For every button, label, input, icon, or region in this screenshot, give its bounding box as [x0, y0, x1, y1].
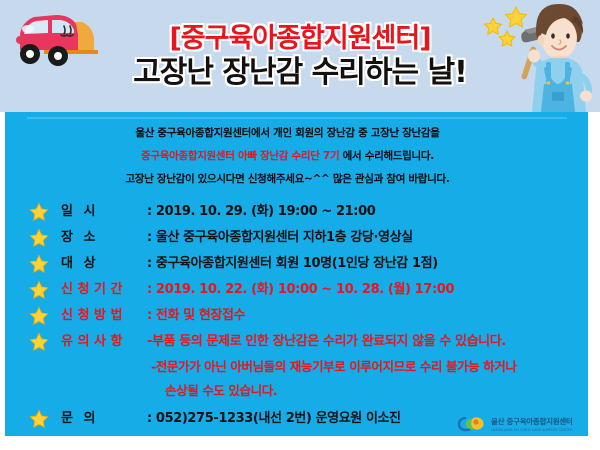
info-row-label: 유 의 사 항 — [61, 330, 147, 349]
description-line-2-highlight: 중구육아종합지원센터 아빠 장난감 수리단 7기 — [141, 150, 339, 162]
star-bullet-icon — [29, 306, 49, 326]
caution-subnote-2: 손상될 수도 있습니다. — [165, 380, 277, 399]
info-row-caution: 유 의 사 항 -부품 등의 문제로 인한 장난감은 수리가 완료되지 않을 수… — [5, 330, 588, 356]
caution-subnote-1-row: -전문가가 아닌 아버님들의 재능기부로 이루어지므로 수리 불가능 하거나 — [5, 356, 588, 380]
info-row-value: : 052)275-1233(내선 2번) 운영요원 이소진 — [147, 407, 401, 426]
description-line-3: 고장난 장난감이 있으시다면 신청해주세요~^^ 많은 관심과 참여 바랍니다. — [5, 168, 570, 191]
poster-header: [중구육아종합지원센터] 고장난 장난감 수리하는 날! — [0, 0, 600, 112]
star-bullet-icon — [29, 332, 49, 352]
info-row-datetime: 일 시 : 2019. 10. 29. (화) 19:00 ~ 21:00 — [5, 200, 588, 226]
header-title-block: [중구육아종합지원센터] 고장난 장난감 수리하는 날! — [92, 6, 508, 108]
info-row-label: 신 청 방 법 — [61, 304, 147, 323]
info-row-application-method: 신 청 방 법 : 전화 및 현장접수 — [5, 304, 588, 330]
handyman-with-hammer-icon — [516, 0, 600, 112]
star-bullet-icon — [29, 228, 49, 248]
info-row-label: 신 청 기 간 — [61, 278, 147, 297]
info-row-value: : 울산 중구육아종합지원센터 지하1층 강당·영상실 — [147, 226, 413, 245]
info-row-label: 대 상 — [61, 252, 147, 271]
info-row-value: -부품 등의 문제로 인한 장난감은 수리가 완료되지 않을 수 있습니다. — [147, 330, 506, 349]
info-row-application-period: 신 청 기 간 : 2019. 10. 22. (화) 10:00 ~ 10. … — [5, 278, 588, 304]
description-line-1: 울산 중구육아종합지원센터에서 개인 회원의 장난감 중 고장난 장난감을 — [5, 122, 570, 145]
caution-subnote-2-row: 손상될 수도 있습니다. — [5, 380, 588, 404]
description-block: 울산 중구육아종합지원센터에서 개인 회원의 장난감 중 고장난 장난감을 중구… — [5, 122, 588, 191]
logo-subtitle: ULSAN JUNG-GU CHILD CARE SUPPORT CENTER — [491, 428, 573, 432]
poster-body: 울산 중구육아종합지원센터에서 개인 회원의 장난감 중 고장난 장난감을 중구… — [5, 112, 588, 436]
poster-title-line-2: 고장난 장난감 수리하는 날! — [133, 57, 467, 89]
info-row-label: 장 소 — [61, 226, 147, 245]
info-row-target: 대 상 : 중구육아종합지원센터 회원 10명(1인당 장난감 1점) — [5, 252, 588, 278]
description-line-2: 중구육아종합지원센터 아빠 장난감 수리단 7기 에서 수리해드립니다. — [5, 145, 570, 168]
organization-logo: 울산 중구육아종합지원센터 ULSAN JUNG-GU CHILD CARE S… — [457, 411, 583, 436]
poster-root: [중구육아종합지원센터] 고장난 장난감 수리하는 날! — [0, 0, 600, 450]
description-line-2-rest: 에서 수리해드립니다. — [339, 150, 434, 162]
info-row-value: : 중구육아종합지원센터 회원 10명(1인당 장난감 1점) — [147, 252, 438, 271]
star-bullet-icon — [29, 409, 49, 429]
info-row-label: 일 시 — [61, 200, 147, 219]
info-list: 일 시 : 2019. 10. 29. (화) 19:00 ~ 21:00 장 … — [5, 200, 588, 404]
info-row-value: : 전화 및 현장접수 — [147, 304, 245, 323]
ulsan-junggu-center-logo-icon — [457, 413, 487, 435]
info-row-value: : 2019. 10. 29. (화) 19:00 ~ 21:00 — [147, 200, 375, 219]
logo-text-block: 울산 중구육아종합지원센터 ULSAN JUNG-GU CHILD CARE S… — [491, 416, 573, 432]
caution-subnote-1: -전문가가 아닌 아버님들의 재능기부로 이루어지므로 수리 불가능 하거나 — [151, 356, 516, 375]
star-bullet-icon — [29, 202, 49, 222]
star-bullet-icon — [29, 280, 49, 300]
info-row-value: : 2019. 10. 22. (화) 10:00 ~ 10. 28. (월) … — [147, 278, 454, 297]
divider-line — [27, 117, 567, 119]
poster-title-line-1: [중구육아종합지원센터] — [169, 24, 430, 53]
info-row-location: 장 소 : 울산 중구육아종합지원센터 지하1층 강당·영상실 — [5, 226, 588, 252]
info-row-label: 문 의 — [61, 407, 147, 426]
star-bullet-icon — [29, 254, 49, 274]
logo-title: 울산 중구육아종합지원센터 — [491, 416, 573, 427]
red-toy-car-icon — [8, 4, 100, 70]
